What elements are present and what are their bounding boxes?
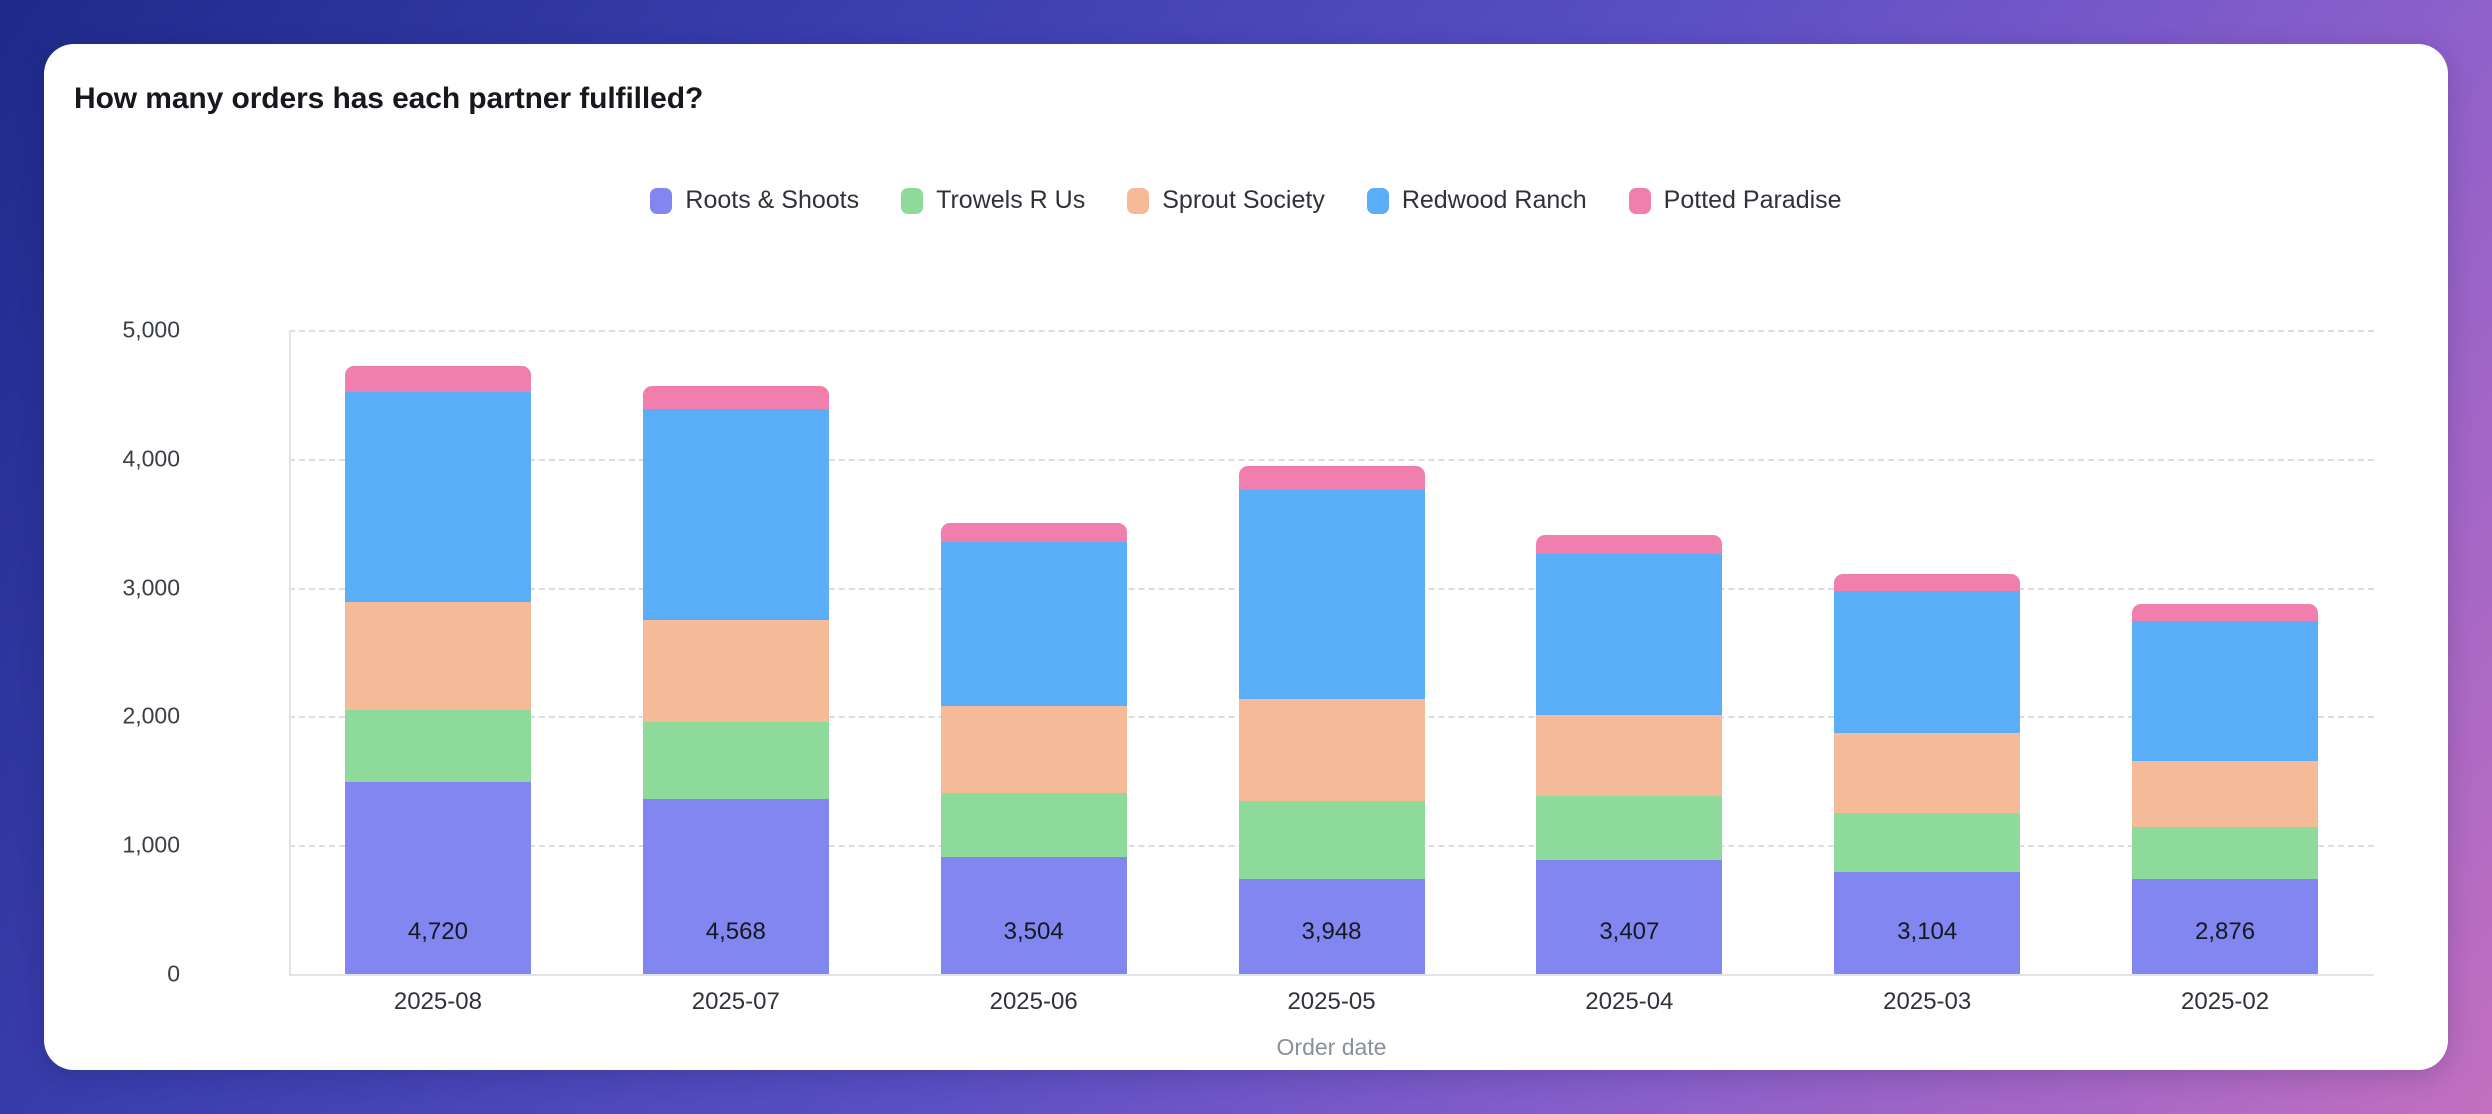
bar-segment[interactable] <box>643 409 829 620</box>
gridline <box>289 974 2374 976</box>
bar-segment[interactable] <box>1239 699 1425 801</box>
bar-segment[interactable] <box>1834 574 2020 591</box>
bar-group[interactable]: 3,948 <box>1239 466 1425 975</box>
bar-segment[interactable] <box>2132 621 2318 761</box>
x-axis-title: Order date <box>289 1034 2374 1061</box>
y-axis-tick-label: 2,000 <box>122 703 180 730</box>
bar-segment[interactable] <box>1239 466 1425 490</box>
x-axis-tick-label: 2025-08 <box>394 988 482 1016</box>
x-axis-tick-label: 2025-05 <box>1287 988 1375 1016</box>
bar-segment[interactable] <box>941 857 1127 974</box>
bar-total-label: 2,876 <box>2195 918 2255 946</box>
bar-segment[interactable] <box>941 523 1127 543</box>
bar-total-label: 3,948 <box>1301 918 1361 946</box>
y-axis-tick-label: 1,000 <box>122 832 180 859</box>
bar-segment[interactable] <box>2132 604 2318 622</box>
bar-segment[interactable] <box>2132 761 2318 827</box>
x-axis-tick-label: 2025-06 <box>990 988 1078 1016</box>
bar-segment[interactable] <box>941 793 1127 856</box>
bar-group[interactable]: 3,504 <box>941 523 1127 974</box>
y-axis-tick-label: 4,000 <box>122 445 180 472</box>
bar-segment[interactable] <box>1834 813 2020 872</box>
bar-segment[interactable] <box>941 706 1127 793</box>
bar-segment[interactable] <box>1834 591 2020 732</box>
x-axis-tick-label: 2025-04 <box>1585 988 1673 1016</box>
bar-segment[interactable] <box>1536 715 1722 795</box>
bar-segment[interactable] <box>345 602 531 710</box>
bar-total-label: 3,407 <box>1599 918 1659 946</box>
bar-group[interactable]: 3,407 <box>1536 535 1722 974</box>
bar-segment[interactable] <box>643 620 829 722</box>
bar-total-label: 3,104 <box>1897 918 1957 946</box>
bar-segment[interactable] <box>1239 490 1425 699</box>
x-axis-tick-label: 2025-03 <box>1883 988 1971 1016</box>
bar-segment[interactable] <box>643 386 829 409</box>
bar-segment[interactable] <box>1239 801 1425 879</box>
bar-segment[interactable] <box>643 799 829 974</box>
bar-segment[interactable] <box>1834 733 2020 814</box>
bar-segment[interactable] <box>345 366 531 392</box>
bar-total-label: 4,720 <box>408 918 468 946</box>
bar-segment[interactable] <box>643 722 829 799</box>
x-axis-tick-label: 2025-02 <box>2181 988 2269 1016</box>
bar-total-label: 3,504 <box>1004 918 1064 946</box>
x-axis-tick-label: 2025-07 <box>692 988 780 1016</box>
bar-segment[interactable] <box>345 392 531 602</box>
bar-segment[interactable] <box>2132 827 2318 879</box>
bar-segment[interactable] <box>345 710 531 782</box>
bar-total-label: 4,568 <box>706 918 766 946</box>
bar-group[interactable]: 4,568 <box>643 386 829 974</box>
bar-group[interactable]: 4,720 <box>345 366 531 974</box>
y-axis-tick-label: 3,000 <box>122 574 180 601</box>
bar-group[interactable]: 2,876 <box>2132 604 2318 974</box>
y-axis-tick-label: 0 <box>167 961 180 988</box>
bar-segment[interactable] <box>941 542 1127 706</box>
bar-group[interactable]: 3,104 <box>1834 574 2020 974</box>
bar-segment[interactable] <box>1536 796 1722 861</box>
chart-card: How many orders has each partner fulfill… <box>44 44 2448 1070</box>
bar-segment[interactable] <box>1536 535 1722 554</box>
bar-segment[interactable] <box>1536 554 1722 715</box>
plot-area: 01,0002,0003,0004,0005,000 4,7204,5683,5… <box>44 44 2448 1070</box>
bars-layer: 4,7204,5683,5043,9483,4073,1042,876 <box>289 330 2374 974</box>
y-axis-tick-label: 5,000 <box>122 317 180 344</box>
